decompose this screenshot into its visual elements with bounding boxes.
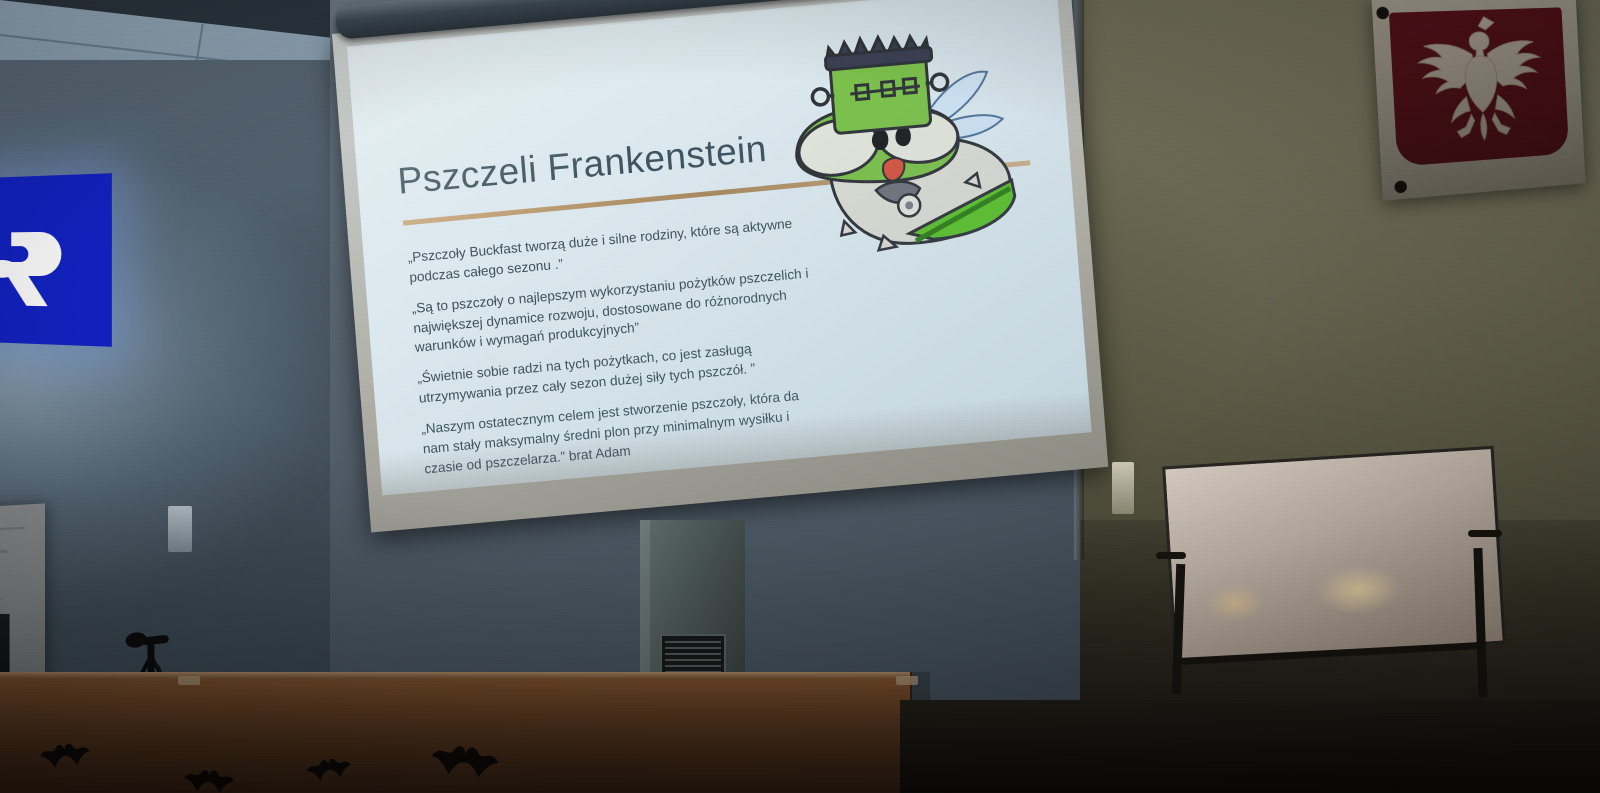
flower-r-logo-icon [0, 226, 67, 313]
desk-1-top [0, 672, 172, 679]
frankenstein-bee-drawing [768, 17, 1035, 274]
emblem-shadow [1371, 0, 1585, 201]
bat-decoration-4 [427, 737, 504, 785]
whiteboard-on-stand [1160, 448, 1510, 708]
lecture-hall-photo: Pszczeli Frankenstein „Pszczoły Buckfast… [0, 0, 1600, 793]
desk-2-clip [178, 676, 200, 685]
desk-3-top [520, 672, 910, 679]
desk-1 [0, 672, 174, 793]
desk-2-top [172, 672, 520, 679]
whiteboard-light-reflection [1315, 562, 1403, 617]
rollup-banner: egii [0, 503, 45, 690]
illuminated-blue-sign [0, 173, 112, 347]
wooden-desk-row [0, 672, 930, 793]
wall-speaker-left [168, 506, 192, 552]
floor-shadow [900, 700, 1600, 793]
bat-decoration-2 [181, 764, 237, 793]
screen-surface: Pszczeli Frankenstein „Pszczoły Buckfast… [347, 0, 1091, 495]
desk-3 [520, 672, 912, 793]
polish-coat-of-arms [1371, 0, 1585, 201]
whiteboard-surface [1162, 446, 1506, 664]
whiteboard-arm-right [1468, 530, 1502, 537]
projection-screen: Pszczeli Frankenstein „Pszczoły Buckfast… [330, 8, 1090, 553]
banner-shadow [0, 503, 45, 690]
desk-3-clip [896, 676, 918, 685]
bat-decoration-1 [37, 737, 94, 772]
screen-border: Pszczeli Frankenstein „Pszczoły Buckfast… [332, 0, 1108, 532]
wall-speaker-right [1112, 462, 1134, 514]
whiteboard-arm-left [1156, 552, 1186, 559]
whiteboard-light-reflection-2 [1205, 582, 1266, 624]
